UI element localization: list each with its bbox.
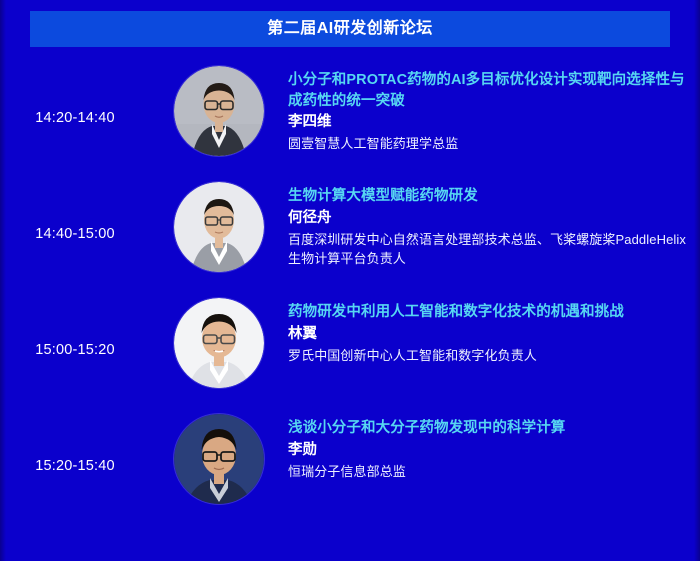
speaker-affiliation: 恒瑞分子信息部总监 xyxy=(288,462,686,482)
speaker-photo-li-siwei xyxy=(174,66,264,156)
session-time: 14:20-14:40 xyxy=(0,58,150,126)
avatar-cell xyxy=(150,58,288,156)
session-text: 小分子和PROTAC药物的AI多目标优化设计实现靶向选择性与成药性的统一突破 李… xyxy=(288,58,700,154)
speaker-name: 李勋 xyxy=(288,440,686,461)
session-time: 15:20-15:40 xyxy=(0,406,150,474)
agenda-page: 第二届AI研发创新论坛 14:20-14:40 xyxy=(0,0,700,561)
session-title: 生物计算大模型赋能药物研发 xyxy=(288,186,686,207)
speaker-name: 李四维 xyxy=(288,112,686,133)
agenda-row: 15:20-15:40 xyxy=(0,406,700,522)
session-title: 浅谈小分子和大分子药物发现中的科学计算 xyxy=(288,418,686,439)
speaker-affiliation: 罗氏中国创新中心人工智能和数字化负责人 xyxy=(288,346,686,366)
session-time: 15:00-15:20 xyxy=(0,290,150,358)
avatar-cell xyxy=(150,174,288,272)
speaker-photo-he-jingzhou xyxy=(174,182,264,272)
agenda-row: 14:40-15:00 xyxy=(0,174,700,290)
agenda-row: 15:00-15:20 xyxy=(0,290,700,406)
speaker-photo-li-xun xyxy=(174,414,264,504)
session-time: 14:40-15:00 xyxy=(0,174,150,242)
agenda-list: 14:20-14:40 xyxy=(0,58,700,522)
session-title: 药物研发中利用人工智能和数字化技术的机遇和挑战 xyxy=(288,302,686,323)
session-text: 浅谈小分子和大分子药物发现中的科学计算 李勋 恒瑞分子信息部总监 xyxy=(288,406,700,481)
speaker-photo-lin-yi xyxy=(174,298,264,388)
speaker-name: 何径舟 xyxy=(288,208,686,229)
session-text: 生物计算大模型赋能药物研发 何径舟 百度深圳研发中心自然语言处理部技术总监、飞桨… xyxy=(288,174,700,269)
avatar-cell xyxy=(150,406,288,504)
page-title: 第二届AI研发创新论坛 xyxy=(267,21,433,37)
session-title: 小分子和PROTAC药物的AI多目标优化设计实现靶向选择性与成药性的统一突破 xyxy=(288,70,686,111)
avatar-cell xyxy=(150,290,288,388)
session-text: 药物研发中利用人工智能和数字化技术的机遇和挑战 林翼 罗氏中国创新中心人工智能和… xyxy=(288,290,700,365)
header-banner: 第二届AI研发创新论坛 xyxy=(30,11,670,47)
speaker-affiliation: 百度深圳研发中心自然语言处理部技术总监、飞桨螺旋桨PaddleHelix 生物计… xyxy=(288,230,686,269)
agenda-row: 14:20-14:40 xyxy=(0,58,700,174)
speaker-name: 林翼 xyxy=(288,324,686,345)
speaker-affiliation: 圆壹智慧人工智能药理学总监 xyxy=(288,134,686,154)
